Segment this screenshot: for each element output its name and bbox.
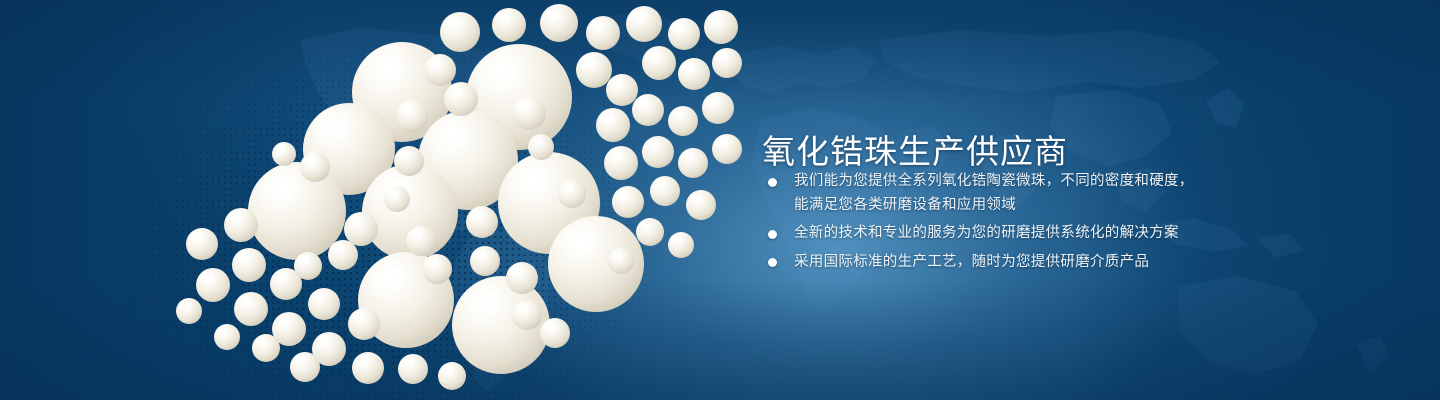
bead-medium: [348, 308, 380, 340]
bead-medium: [328, 240, 358, 270]
bead-medium: [712, 48, 742, 78]
hero-banner: 氧化锆珠生产供应商 我们能为您提供全系列氧化锆陶瓷微珠，不同的密度和硬度， 能满…: [0, 0, 1440, 400]
bead-medium: [586, 16, 620, 50]
bead-medium: [678, 148, 708, 178]
bead-medium: [686, 190, 716, 220]
list-item: 采用国际标准的生产工艺，随时为您提供研磨介质产品: [766, 251, 1206, 275]
bead-medium: [396, 100, 428, 132]
bead-medium: [252, 334, 280, 362]
bead-medium: [196, 268, 230, 302]
banner-content: 氧化锆珠生产供应商 我们能为您提供全系列氧化锆陶瓷微珠，不同的密度和硬度， 能满…: [762, 0, 1242, 400]
bead-medium: [642, 46, 676, 80]
bead-medium: [604, 146, 638, 180]
bead-medium: [232, 248, 266, 282]
bead-small: [214, 324, 240, 350]
bullet-dot-icon: [768, 230, 777, 239]
list-item: 我们能为您提供全系列氧化锆陶瓷微珠，不同的密度和硬度， 能满足您各类研磨设备和应…: [766, 170, 1206, 217]
bead-medium: [424, 54, 456, 86]
bead-medium: [650, 176, 680, 206]
bullet-dot-icon: [768, 178, 777, 187]
list-item-line: 采用国际标准的生产工艺，随时为您提供研磨介质产品: [794, 251, 1206, 275]
bead-medium: [632, 94, 664, 126]
bullet-dot-icon: [768, 258, 777, 267]
bead-small: [608, 248, 634, 274]
bead-medium: [668, 106, 698, 136]
bead-medium: [512, 96, 546, 130]
bead-medium: [466, 206, 498, 238]
bead-medium: [470, 246, 500, 276]
bead-medium: [186, 228, 218, 260]
bead-medium: [712, 134, 742, 164]
bead-medium: [308, 288, 340, 320]
bead-medium: [642, 136, 674, 168]
bead-medium: [528, 134, 554, 160]
page-title: 氧化锆珠生产供应商: [762, 132, 1068, 172]
bead-medium: [422, 254, 452, 284]
bead-medium: [506, 262, 538, 294]
bead-medium: [394, 146, 424, 176]
bead-medium: [704, 10, 738, 44]
bead-small: [176, 298, 202, 324]
zirconia-beads-photo: [0, 0, 760, 400]
list-item-line: 我们能为您提供全系列氧化锆陶瓷微珠，不同的密度和硬度，: [794, 170, 1206, 194]
bead-medium: [668, 18, 700, 50]
bead-medium: [612, 186, 644, 218]
bead-medium: [678, 58, 710, 90]
list-item-line: 全新的技术和专业的服务为您的研磨提供系统化的解决方案: [794, 222, 1206, 246]
bead-small: [636, 218, 664, 246]
bead-medium: [492, 8, 526, 42]
bead-medium: [300, 152, 330, 182]
bead-medium: [294, 252, 322, 280]
bead-medium: [224, 208, 258, 242]
bead-medium: [290, 352, 320, 382]
bead-medium: [352, 352, 384, 384]
bead-small: [668, 232, 694, 258]
bead-medium: [444, 82, 478, 116]
bead-medium: [558, 180, 586, 208]
bead-medium: [540, 318, 570, 348]
bead-medium: [512, 300, 542, 330]
bead-small: [384, 186, 410, 212]
bead-medium: [596, 108, 630, 142]
bead-medium: [398, 354, 428, 384]
list-item-line: 能满足您各类研磨设备和应用领域: [794, 194, 1206, 218]
bead-medium: [626, 6, 662, 42]
bead-medium: [438, 362, 466, 390]
feature-list: 我们能为您提供全系列氧化锆陶瓷微珠，不同的密度和硬度， 能满足您各类研磨设备和应…: [766, 170, 1206, 279]
bead-medium: [406, 226, 436, 256]
bead-medium: [440, 12, 480, 52]
bead-small: [272, 142, 296, 166]
bead-medium: [540, 4, 578, 42]
list-item: 全新的技术和专业的服务为您的研磨提供系统化的解决方案: [766, 222, 1206, 246]
bead-medium: [702, 92, 734, 124]
bead-medium: [234, 292, 268, 326]
